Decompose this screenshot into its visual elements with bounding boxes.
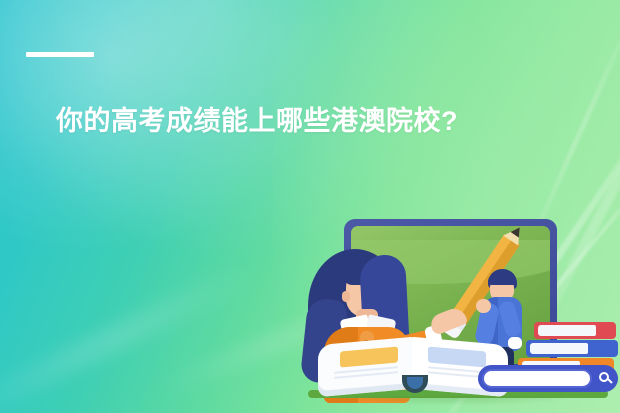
book-pages [538, 325, 596, 336]
page-title: 你的高考成绩能上哪些港澳院校? [56, 104, 458, 138]
book-blue [526, 340, 618, 357]
student-hair-front [488, 274, 515, 285]
book-page-left [318, 337, 413, 397]
search-input[interactable] [482, 369, 592, 388]
book-red [534, 322, 616, 339]
accent-rule [26, 52, 94, 57]
poster-canvas: 你的高考成绩能上哪些港澳院校? [0, 0, 620, 413]
student-hand [476, 299, 491, 313]
teacher-ear [342, 291, 350, 302]
ground-shadow [330, 396, 580, 406]
study-scene-illustration [300, 207, 620, 413]
book-pages [530, 343, 588, 354]
